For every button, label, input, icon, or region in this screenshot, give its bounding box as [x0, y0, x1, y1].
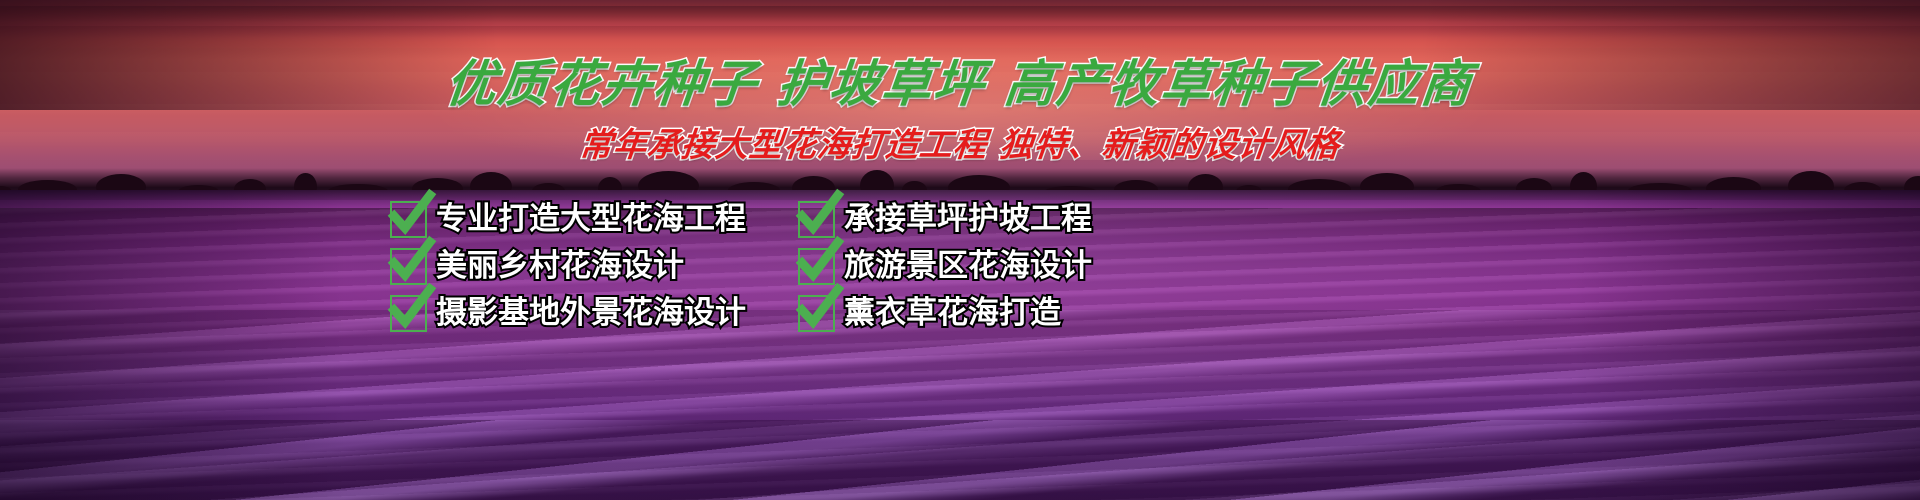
feature-item: 摄影基地外景花海设计 [390, 290, 798, 337]
feature-label: 美丽乡村花海设计 [436, 251, 684, 282]
feature-item: 承接草坪护坡工程 [798, 196, 1150, 243]
promo-banner: 优质花卉种子 护坡草坪 高产牧草种子供应商 常年承接大型花海打造工程 独特、新颖… [0, 0, 1920, 500]
check-icon [798, 201, 835, 238]
feature-item: 专业打造大型花海工程 [390, 196, 798, 243]
banner-subtitle: 常年承接大型花海打造工程 独特、新颖的设计风格 [0, 118, 1920, 166]
feature-item: 美丽乡村花海设计 [390, 243, 798, 290]
feature-label: 摄影基地外景花海设计 [436, 298, 746, 329]
feature-item: 旅游景区花海设计 [798, 243, 1150, 290]
check-icon [798, 248, 835, 285]
check-icon [390, 248, 427, 285]
banner-headline: 优质花卉种子 护坡草坪 高产牧草种子供应商 [0, 44, 1920, 116]
feature-label: 薰衣草花海打造 [844, 298, 1061, 329]
check-icon [798, 295, 835, 332]
feature-label: 专业打造大型花海工程 [436, 204, 746, 235]
feature-checklist: 专业打造大型花海工程 承接草坪护坡工程 美丽乡村花海设计 [390, 196, 1150, 337]
feature-label: 旅游景区花海设计 [844, 251, 1092, 282]
check-icon [390, 295, 427, 332]
feature-item: 薰衣草花海打造 [798, 290, 1150, 337]
feature-label: 承接草坪护坡工程 [844, 204, 1092, 235]
check-icon [390, 201, 427, 238]
